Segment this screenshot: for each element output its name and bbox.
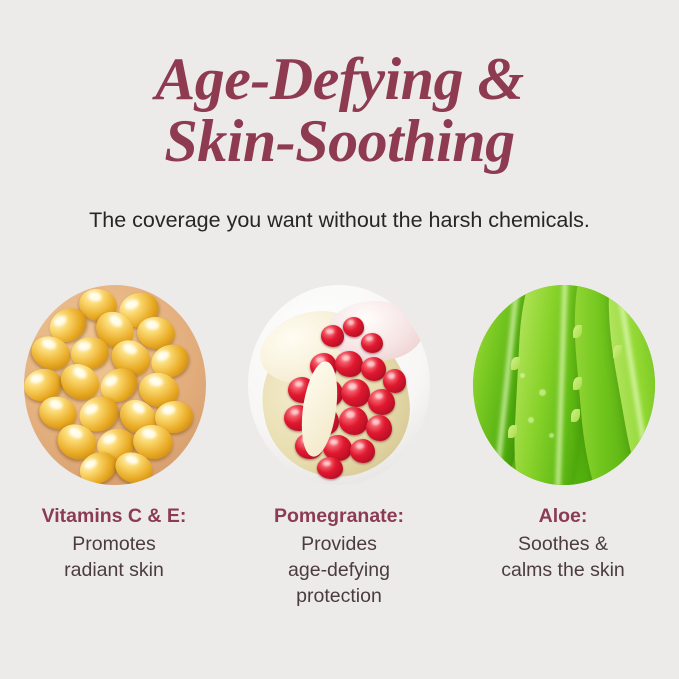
ingredient-body-line: Soothes & [453, 531, 673, 557]
ingredient-title-vitamins: Vitamins C & E: [4, 503, 224, 529]
page-subtitle: The coverage you want without the harsh … [0, 206, 679, 234]
ingredient-caption-aloe: Aloe: Soothes & calms the skin [453, 503, 673, 583]
ingredient-title-aloe: Aloe: [453, 503, 673, 529]
ingredient-body-line: protection [229, 583, 449, 609]
ingredient-body-line: Promotes [4, 531, 224, 557]
ingredient-body-line: Provides [229, 531, 449, 557]
ingredient-body-pomegranate: Provides age-defying protection [229, 531, 449, 609]
ingredient-body-line: calms the skin [453, 557, 673, 583]
ingredient-image-pomegranate [248, 285, 430, 485]
aloe-leaves-photo [473, 285, 655, 485]
ingredient-body-line: age-defying [229, 557, 449, 583]
ingredient-caption-vitamins: Vitamins C & E: Promotes radiant skin [4, 503, 224, 583]
aloe-backdrop [473, 285, 655, 485]
ingredient-title-pomegranate: Pomegranate: [229, 503, 449, 529]
ingredient-caption-pomegranate: Pomegranate: Provides age-defying protec… [229, 503, 449, 609]
capsules-backdrop [24, 285, 206, 485]
ingredient-image-vitamins [24, 285, 206, 485]
ingredient-body-aloe: Soothes & calms the skin [453, 531, 673, 583]
pomegranate-photo [248, 285, 430, 485]
page-title-line-2: Skin-Soothing [0, 110, 679, 172]
pomegranate-backdrop [248, 285, 430, 485]
ingredient-image-aloe [473, 285, 655, 485]
page-title: Age-Defying & Skin-Soothing [0, 48, 679, 172]
ingredient-body-vitamins: Promotes radiant skin [4, 531, 224, 583]
ingredient-images-row [0, 285, 679, 485]
ingredient-captions-row: Vitamins C & E: Promotes radiant skin Po… [0, 503, 679, 643]
vitamin-capsules-photo [24, 285, 206, 485]
page-title-line-1: Age-Defying & [0, 48, 679, 110]
ingredient-benefits-infographic: Age-Defying & Skin-Soothing The coverage… [0, 0, 679, 679]
ingredient-body-line: radiant skin [4, 557, 224, 583]
